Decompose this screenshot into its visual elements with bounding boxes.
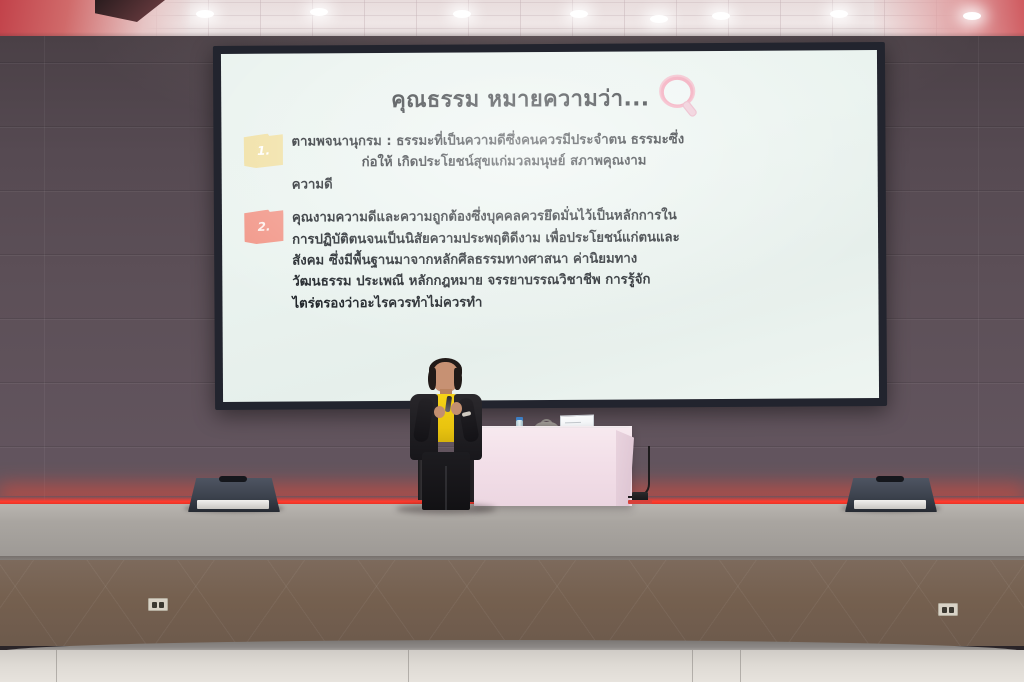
slide-bullet-2: 2. คุณงามความดีและความถูกต้องซึ่งบุคคลคว… bbox=[236, 204, 863, 315]
wall-outlet-left[interactable] bbox=[148, 598, 168, 611]
sticky-note-marker-2: 2. bbox=[243, 209, 284, 245]
slide-body: 1. ตามพจนานุกรม : ธรรมะที่เป็นความดีซึ่ง… bbox=[235, 128, 862, 323]
ceiling-light bbox=[310, 8, 328, 16]
slide-title: คุณธรรม หมายความว่า... bbox=[391, 80, 650, 117]
draped-table bbox=[474, 428, 632, 506]
outlet-socket bbox=[942, 607, 947, 613]
di-box-base bbox=[628, 500, 652, 504]
wall-outlet-right[interactable] bbox=[938, 603, 958, 616]
ceiling-light bbox=[196, 10, 214, 18]
presenter-hand-left bbox=[434, 406, 445, 418]
outlet-socket bbox=[949, 607, 954, 613]
slide-title-row: คุณธรรม หมายความว่า... bbox=[221, 72, 877, 124]
sticky-note-marker-1: 1. bbox=[243, 133, 284, 169]
monitor-handle bbox=[219, 476, 247, 482]
floor-seam bbox=[56, 650, 57, 682]
outlet-socket bbox=[159, 602, 164, 608]
stage-monitor-right bbox=[845, 474, 937, 512]
slide-bullet-1: 1. ตามพจนานุกรม : ธรรมะที่เป็นความดีซึ่ง… bbox=[235, 128, 861, 196]
bullet-1-line-3: ความดี bbox=[292, 171, 862, 196]
presenter-hair-right bbox=[454, 368, 462, 390]
slide-bullet-1-text: ตามพจนานุกรม : ธรรมะที่เป็นความดีซึ่งคนค… bbox=[291, 128, 861, 196]
ceiling-light bbox=[453, 10, 471, 18]
laptop-screen-line bbox=[565, 422, 581, 423]
floor-seam bbox=[408, 650, 409, 682]
monitor-handle bbox=[876, 476, 904, 482]
monitor-grille bbox=[197, 500, 269, 509]
presenter-hair-left bbox=[428, 368, 436, 390]
magnifying-glass-icon bbox=[655, 73, 707, 121]
bullet-2-line-5: ไตร่ตรองว่าอะไรควรทำไม่ควรทำ bbox=[292, 290, 862, 315]
slide-bullet-2-text: คุณงามความดีและความถูกต้องซึ่งบุคคลควรยึ… bbox=[292, 204, 863, 314]
ceiling-light bbox=[650, 15, 668, 23]
floor bbox=[0, 650, 1024, 682]
ceiling-light bbox=[963, 12, 981, 20]
stage-platform bbox=[0, 504, 1024, 564]
projection-screen-frame: คุณธรรม หมายความว่า... 1. ตามพจนานุกรม :… bbox=[213, 42, 887, 410]
stage-monitor-left bbox=[188, 474, 280, 512]
presenter-hand-right bbox=[451, 402, 462, 415]
ceiling-light bbox=[830, 10, 848, 18]
floor-seam bbox=[740, 650, 741, 682]
ceiling-light bbox=[712, 12, 730, 20]
presenter bbox=[402, 362, 490, 510]
monitor-grille bbox=[854, 500, 926, 509]
floor-seam bbox=[692, 650, 693, 682]
projection-screen[interactable]: คุณธรรม หมายความว่า... 1. ตามพจนานุกรม :… bbox=[221, 50, 879, 402]
outlet-socket bbox=[152, 602, 157, 608]
floor-cable bbox=[628, 446, 650, 498]
presenter-leg-seam bbox=[445, 466, 447, 510]
ceiling-light bbox=[570, 10, 588, 18]
conference-hall-scene: คุณธรรม หมายความว่า... 1. ตามพจนานุกรม :… bbox=[0, 0, 1024, 682]
